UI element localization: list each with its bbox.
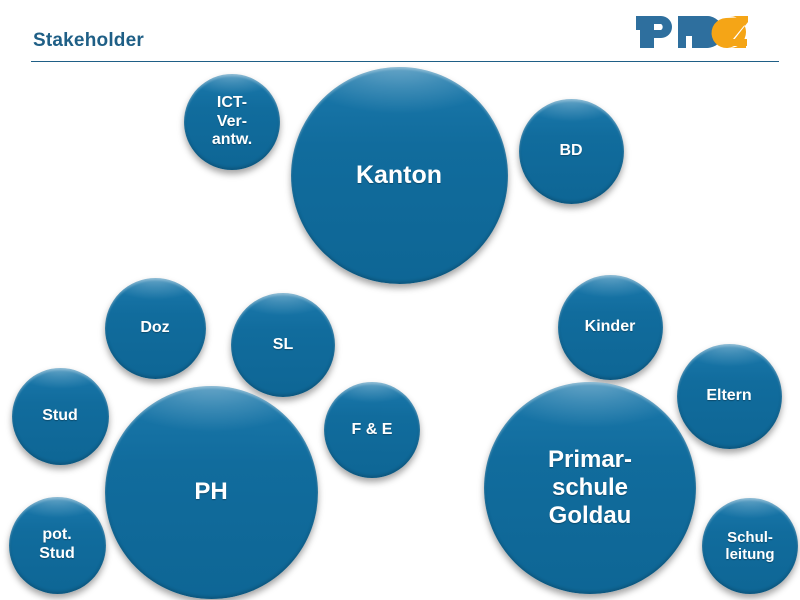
bubble-fe[interactable]: F & E xyxy=(324,382,420,478)
bubble-eltern[interactable]: Eltern xyxy=(677,344,782,449)
bubble-sl[interactable]: SL xyxy=(231,293,335,397)
bubble-label: Kinder xyxy=(579,318,642,337)
bubble-label: SL xyxy=(267,336,299,355)
bubble-label: pot. Stud xyxy=(33,526,81,563)
bubble-label: PH xyxy=(188,478,233,506)
bubble-doz[interactable]: Doz xyxy=(105,278,206,379)
bubble-label: Primar- schule Goldau xyxy=(542,446,638,529)
bubble-primarschule-goldau[interactable]: Primar- schule Goldau xyxy=(484,382,696,594)
bubble-label: Stud xyxy=(36,407,84,426)
bubble-label: Kanton xyxy=(350,161,448,190)
title-divider xyxy=(31,61,779,62)
bubble-label: Eltern xyxy=(700,387,757,406)
bubble-label: BD xyxy=(553,142,588,161)
bubble-bd[interactable]: BD xyxy=(519,99,624,204)
bubble-label: ICT- Ver- antw. xyxy=(206,94,258,150)
page-title: Stakeholder xyxy=(33,30,144,52)
bubble-kinder[interactable]: Kinder xyxy=(558,275,663,380)
bubble-pot-stud[interactable]: pot. Stud xyxy=(9,497,106,594)
bubble-label: F & E xyxy=(346,421,399,440)
bubble-stud[interactable]: Stud xyxy=(12,368,109,465)
bubble-label: Schul- leitung xyxy=(719,529,780,564)
bubble-kanton[interactable]: Kanton xyxy=(291,67,508,284)
slide-canvas: Stakeholder ICT- Ver- antw.KantonBDDozSL… xyxy=(0,0,800,600)
bubble-ph[interactable]: PH xyxy=(105,386,318,599)
bubble-ict-verantw[interactable]: ICT- Ver- antw. xyxy=(184,74,280,170)
bubble-label: Doz xyxy=(134,319,175,338)
phz-logo xyxy=(634,8,760,56)
bubble-schulleitung[interactable]: Schul- leitung xyxy=(702,498,798,594)
